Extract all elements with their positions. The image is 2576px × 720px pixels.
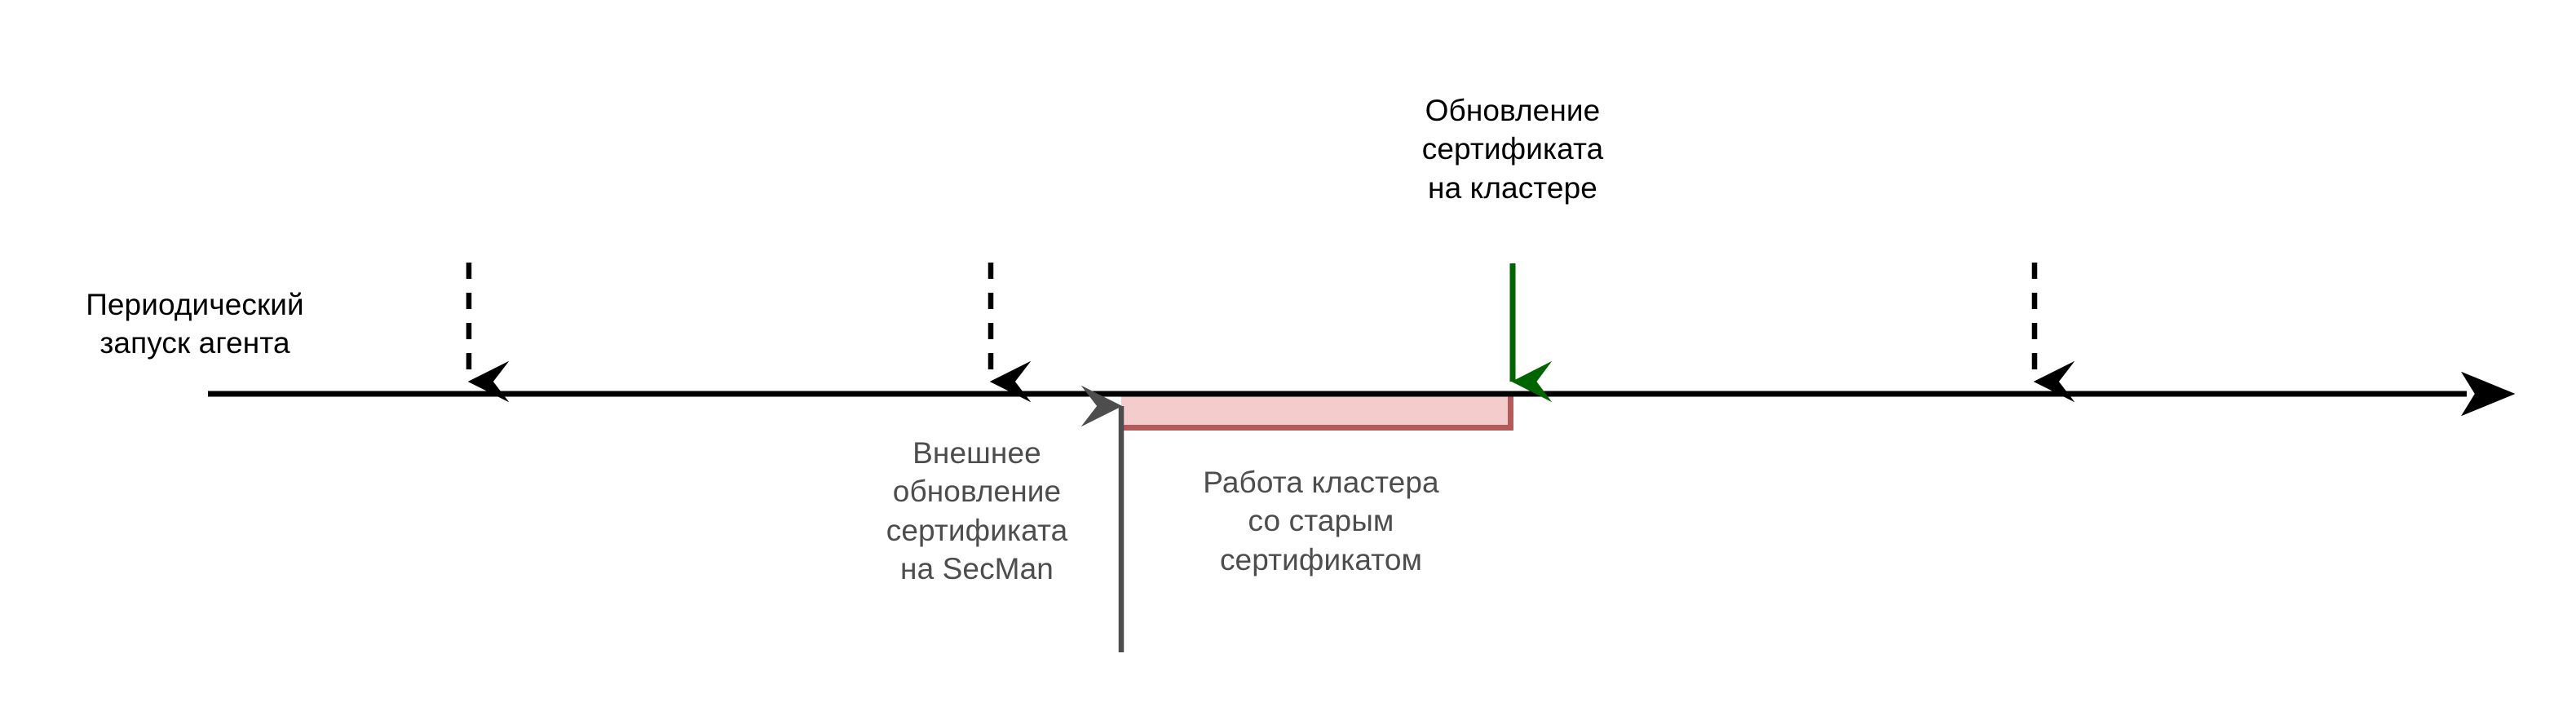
label-stale-certificate-work: Работа кластера со старым сертификатом [1142,463,1500,579]
stale-certificate-interval-box [1121,396,1513,430]
timeline-diagram [0,0,2576,720]
diagram-canvas: Периодический запуск агента Обновление с… [0,0,2576,720]
label-cluster-certificate-update: Обновление сертификата на кластере [1321,91,1704,207]
label-secman-certificate-update: Внешнее обновление сертификата на SecMan [846,434,1107,588]
label-periodic-agent-run: Периодический запуск агента [36,285,354,363]
